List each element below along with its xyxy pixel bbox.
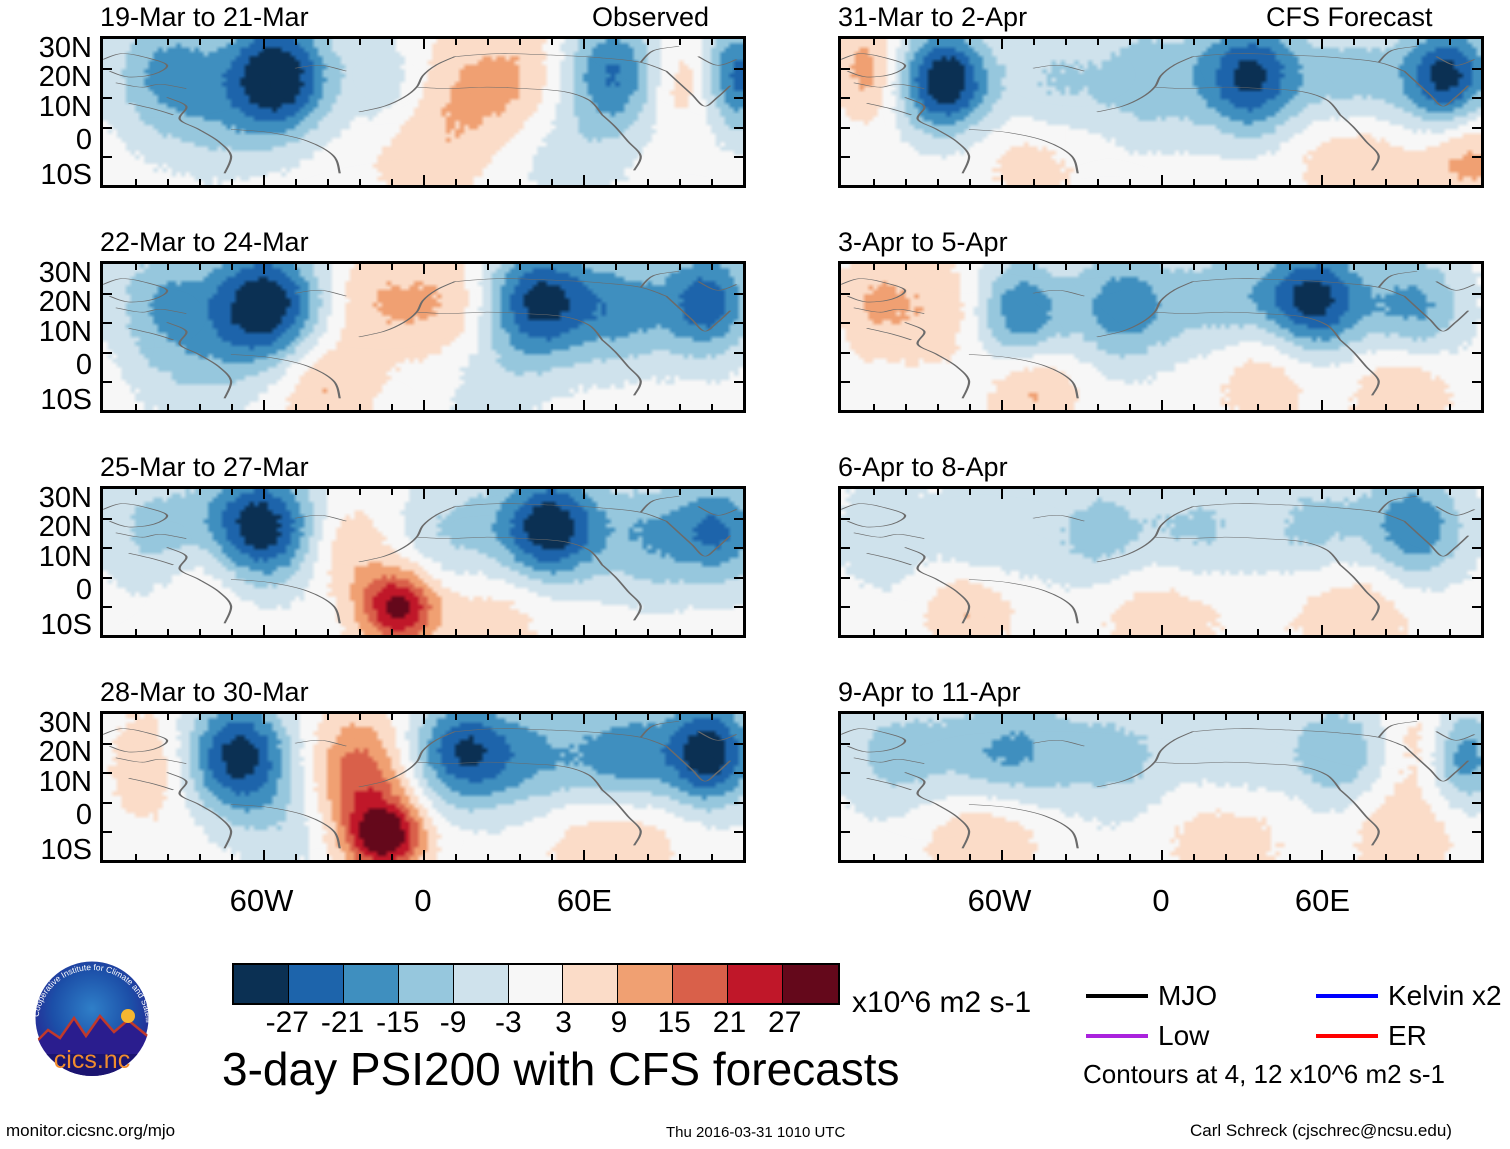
coastline bbox=[359, 57, 455, 112]
coastline bbox=[698, 57, 736, 66]
er-contour bbox=[867, 270, 886, 317]
coastline bbox=[116, 758, 186, 764]
colorbar-segment bbox=[673, 965, 728, 1003]
colorbar-tick-label: -3 bbox=[478, 1008, 538, 1038]
colorbar-segment bbox=[563, 965, 618, 1003]
coastline bbox=[167, 547, 231, 623]
y-tick-label: 20N bbox=[0, 288, 92, 317]
kelvin-contour bbox=[1391, 533, 1468, 551]
panel-title-observed-2: 22-Mar to 24-Mar bbox=[100, 229, 309, 256]
coastline bbox=[455, 504, 666, 522]
map-overlay bbox=[103, 489, 743, 635]
legend-label-low: Low bbox=[1158, 1022, 1209, 1050]
er-contour bbox=[116, 50, 271, 118]
er-contour bbox=[1033, 302, 1073, 401]
low-contour bbox=[1078, 176, 1136, 179]
kelvin-contour bbox=[1263, 734, 1378, 757]
map-overlay bbox=[103, 39, 743, 185]
coastline bbox=[641, 271, 679, 287]
y-tick-label: 10S bbox=[0, 836, 92, 865]
low-contour bbox=[666, 175, 717, 179]
er-contour bbox=[436, 515, 500, 533]
y-tick-label: 10N bbox=[0, 543, 92, 572]
coastline bbox=[455, 729, 666, 747]
coastline bbox=[666, 71, 730, 106]
coastline bbox=[1340, 565, 1379, 620]
coastline bbox=[417, 87, 603, 115]
kelvin-contour bbox=[1449, 48, 1481, 89]
coastline bbox=[103, 279, 167, 302]
coastline bbox=[641, 721, 679, 737]
logo-wordmark: cics.nc bbox=[54, 1046, 130, 1074]
kelvin-contour bbox=[397, 752, 437, 840]
coastline bbox=[417, 537, 603, 565]
map-observed-4[interactable] bbox=[100, 711, 746, 863]
coastline bbox=[167, 97, 231, 173]
coastline bbox=[905, 322, 969, 398]
y-tick-label: 10S bbox=[0, 161, 92, 190]
coastline bbox=[969, 355, 1078, 399]
y-tick-label: 0 bbox=[0, 351, 92, 380]
er-contour bbox=[1014, 322, 1027, 404]
cicsnc-logo-graphic: Cooperative Institute for Climate and Sa… bbox=[18, 958, 178, 1078]
coastline bbox=[1033, 740, 1084, 746]
panel-title-forecast-3: 6-Apr to 8-Apr bbox=[838, 454, 1008, 481]
coastline bbox=[1155, 762, 1341, 790]
colorbar-segment bbox=[399, 965, 454, 1003]
mjo-contour bbox=[1097, 492, 1238, 507]
coastline bbox=[698, 282, 736, 291]
coastline bbox=[455, 279, 666, 297]
legend-item-kelvin: Kelvin x2 bbox=[1316, 982, 1502, 1010]
x-tick-label: 60W bbox=[956, 885, 1044, 916]
colorbar-units-label: x10^6 m2 s-1 bbox=[852, 988, 1031, 1018]
colorbar-tick-label: 27 bbox=[755, 1008, 815, 1038]
panel-title-observed-4: 28-Mar to 30-Mar bbox=[100, 679, 309, 706]
colorbar-segment bbox=[454, 965, 509, 1003]
mjo-contour bbox=[982, 267, 1161, 279]
colorbar-segment bbox=[783, 965, 838, 1003]
er-contour bbox=[333, 717, 397, 837]
map-forecast-1[interactable] bbox=[838, 36, 1484, 188]
coastline bbox=[841, 504, 905, 527]
column-header-observed: Observed bbox=[592, 4, 709, 31]
coastline bbox=[1340, 790, 1379, 845]
colorbar-tick-label: 21 bbox=[699, 1008, 759, 1038]
contour-levels-note: Contours at 4, 12 x10^6 m2 s-1 bbox=[1083, 1061, 1445, 1087]
coastline bbox=[359, 732, 455, 787]
coastline bbox=[129, 328, 174, 340]
colorbar-segment bbox=[509, 965, 564, 1003]
kelvin-contour bbox=[854, 89, 867, 136]
coastline bbox=[231, 355, 340, 399]
mjo-contour bbox=[1071, 159, 1148, 168]
coastline bbox=[867, 103, 912, 115]
y-tick-label: 30N bbox=[0, 484, 92, 513]
y-tick-label: 10N bbox=[0, 93, 92, 122]
er-contour bbox=[956, 585, 1010, 617]
coastline bbox=[1033, 290, 1084, 296]
coastline bbox=[103, 504, 167, 527]
kelvin-contour bbox=[282, 267, 477, 349]
coastline bbox=[854, 533, 924, 539]
coastline bbox=[854, 83, 924, 89]
kelvin-contour bbox=[589, 42, 743, 130]
coastline bbox=[116, 308, 186, 314]
coastline bbox=[167, 322, 231, 398]
kelvin-contour bbox=[122, 308, 154, 399]
coastline bbox=[1436, 507, 1474, 516]
coastline bbox=[116, 533, 186, 539]
coastline bbox=[1155, 87, 1341, 115]
coastline bbox=[1436, 282, 1474, 291]
coastline bbox=[854, 308, 924, 314]
kelvin-contour bbox=[905, 267, 996, 293]
kelvin-contour bbox=[854, 577, 918, 603]
kelvin-contour bbox=[461, 492, 640, 521]
coastline bbox=[295, 515, 346, 521]
map-overlay bbox=[841, 714, 1481, 860]
y-tick-label: 30N bbox=[0, 709, 92, 738]
x-tick-label: 60W bbox=[218, 885, 306, 916]
panel-title-forecast-2: 3-Apr to 5-Apr bbox=[838, 229, 1008, 256]
er-contour bbox=[321, 533, 411, 624]
footer-left-url[interactable]: monitor.cicsnc.org/mjo bbox=[6, 1122, 175, 1139]
colorbar-tick-label: -21 bbox=[313, 1008, 373, 1038]
coastline bbox=[1193, 729, 1404, 747]
mjo-contour bbox=[943, 39, 1039, 48]
y-tick-label: 0 bbox=[0, 801, 92, 830]
coastline bbox=[698, 732, 736, 741]
kelvin-contour bbox=[1187, 42, 1251, 173]
footer-timestamp: Thu 2016-03-31 1010 UTC bbox=[666, 1124, 845, 1141]
mjo-contour bbox=[931, 495, 1072, 542]
coastline bbox=[969, 805, 1078, 849]
coastline bbox=[1097, 282, 1193, 337]
coastline bbox=[1404, 521, 1468, 556]
map-overlay bbox=[103, 264, 743, 410]
kelvin-contour bbox=[397, 39, 435, 109]
kelvin-line-swatch bbox=[1316, 994, 1378, 998]
coastline bbox=[1340, 115, 1379, 170]
coastline bbox=[854, 758, 924, 764]
y-tick-label: 10S bbox=[0, 386, 92, 415]
kelvin-contour bbox=[513, 717, 615, 740]
x-tick-label: 0 bbox=[379, 885, 467, 916]
legend-item-er: ER bbox=[1316, 1022, 1427, 1050]
coastline bbox=[841, 279, 905, 302]
coastline bbox=[905, 547, 969, 623]
colorbar-tick-label: -9 bbox=[423, 1008, 483, 1038]
y-tick-label: 20N bbox=[0, 738, 92, 767]
mjo-contour bbox=[193, 39, 283, 48]
coastline bbox=[1033, 515, 1084, 521]
panel-title-forecast-4: 9-Apr to 11-Apr bbox=[838, 679, 1021, 706]
coastline bbox=[641, 46, 679, 62]
y-tick-label: 30N bbox=[0, 34, 92, 63]
legend-item-mjo: MJO bbox=[1086, 982, 1217, 1010]
cicsnc-logo: Cooperative Institute for Climate and Sa… bbox=[18, 958, 178, 1078]
kelvin-contour bbox=[116, 562, 149, 626]
coastline bbox=[167, 772, 231, 848]
colorbar-segment bbox=[728, 965, 783, 1003]
er-contour bbox=[854, 54, 886, 127]
er-contour bbox=[385, 167, 443, 173]
er-contour bbox=[423, 726, 437, 817]
er-contour bbox=[1046, 65, 1066, 173]
coastline bbox=[602, 115, 641, 170]
mjo-contour bbox=[564, 492, 628, 510]
coastline bbox=[867, 778, 912, 790]
x-tick-label: 60E bbox=[1279, 885, 1367, 916]
coastline bbox=[867, 328, 912, 340]
kelvin-contour bbox=[1020, 267, 1122, 299]
coastline bbox=[841, 729, 905, 752]
map-forecast-3[interactable] bbox=[838, 486, 1484, 638]
kelvin-contour bbox=[180, 717, 270, 735]
colorbar-segment bbox=[289, 965, 344, 1003]
page-title: 3-day PSI200 with CFS forecasts bbox=[222, 1046, 900, 1092]
y-tick-label: 10N bbox=[0, 768, 92, 797]
mjo-contour bbox=[333, 590, 461, 621]
map-overlay bbox=[841, 489, 1481, 635]
coastline bbox=[602, 340, 641, 395]
coastline bbox=[116, 83, 186, 89]
coastline bbox=[129, 778, 174, 790]
legend-label-er: ER bbox=[1388, 1022, 1427, 1050]
coastline bbox=[969, 130, 1078, 174]
coastline bbox=[231, 580, 340, 624]
coastline bbox=[1097, 57, 1193, 112]
mjo-contour bbox=[1315, 267, 1405, 366]
er-line-swatch bbox=[1316, 1034, 1378, 1038]
x-tick-label: 0 bbox=[1117, 885, 1205, 916]
low-line-swatch bbox=[1086, 1034, 1148, 1038]
coastline bbox=[103, 729, 167, 752]
low-contour bbox=[666, 401, 692, 404]
coastline bbox=[1379, 271, 1417, 287]
coastline bbox=[129, 553, 174, 565]
panel-title-observed-3: 25-Mar to 27-Mar bbox=[100, 454, 309, 481]
coastline bbox=[698, 507, 736, 516]
kelvin-contour bbox=[218, 39, 474, 124]
y-tick-label: 10N bbox=[0, 318, 92, 347]
mjo-contour bbox=[218, 363, 295, 369]
coastline bbox=[295, 740, 346, 746]
coastline bbox=[969, 580, 1078, 624]
coastline bbox=[231, 130, 340, 174]
map-overlay bbox=[841, 39, 1481, 185]
coastline bbox=[1436, 732, 1474, 741]
coastline bbox=[359, 282, 455, 337]
mjo-contour bbox=[410, 264, 576, 290]
mjo-contour bbox=[231, 714, 308, 726]
legend-label-kelvin: Kelvin x2 bbox=[1388, 982, 1502, 1010]
map-overlay bbox=[103, 714, 743, 860]
map-observed-3[interactable] bbox=[100, 486, 746, 638]
coastline bbox=[1193, 504, 1404, 522]
coastline bbox=[417, 312, 603, 340]
x-tick-label: 60E bbox=[541, 885, 629, 916]
coastline bbox=[1379, 46, 1417, 62]
coastline bbox=[129, 103, 174, 115]
coastline bbox=[641, 496, 679, 512]
coastline bbox=[905, 772, 969, 848]
kelvin-contour bbox=[295, 758, 397, 846]
y-tick-label: 0 bbox=[0, 126, 92, 155]
coastline bbox=[1404, 71, 1468, 106]
kelvin-contour bbox=[995, 51, 1136, 107]
colorbar-tick-label: 3 bbox=[534, 1008, 594, 1038]
coastline bbox=[455, 54, 666, 72]
colorbar-tick-label: 15 bbox=[644, 1008, 704, 1038]
coastline bbox=[103, 54, 167, 77]
colorbar[interactable] bbox=[232, 963, 840, 1005]
coastline bbox=[1193, 279, 1404, 297]
panel-title-forecast-1: 31-Mar to 2-Apr bbox=[838, 4, 1027, 31]
map-forecast-2[interactable] bbox=[838, 261, 1484, 413]
coastline bbox=[1404, 746, 1468, 781]
low-contour bbox=[282, 845, 359, 854]
coastline bbox=[666, 746, 730, 781]
low-contour bbox=[269, 392, 346, 407]
kelvin-contour bbox=[1404, 395, 1468, 404]
coastline bbox=[1097, 507, 1193, 562]
map-observed-2[interactable] bbox=[100, 261, 746, 413]
legend-item-low: Low bbox=[1086, 1022, 1209, 1050]
kelvin-contour bbox=[666, 720, 717, 761]
coastline bbox=[417, 762, 603, 790]
coastline bbox=[231, 805, 340, 849]
coastline bbox=[602, 565, 641, 620]
coastline bbox=[295, 290, 346, 296]
map-forecast-4[interactable] bbox=[838, 711, 1484, 863]
coastline bbox=[1097, 732, 1193, 787]
column-header-forecast: CFS Forecast bbox=[1266, 4, 1433, 31]
y-tick-label: 0 bbox=[0, 576, 92, 605]
coastline bbox=[666, 521, 730, 556]
footer-author: Carl Schreck (cjschrec@ncsu.edu) bbox=[1190, 1122, 1452, 1139]
kelvin-contour bbox=[892, 42, 988, 68]
coastline bbox=[1155, 537, 1341, 565]
map-observed-1[interactable] bbox=[100, 36, 746, 188]
mjo-line-swatch bbox=[1086, 994, 1148, 998]
mjo-contour bbox=[352, 51, 423, 105]
coastline bbox=[1340, 340, 1379, 395]
colorbar-segment bbox=[234, 965, 289, 1003]
coastline bbox=[295, 65, 346, 71]
low-contour bbox=[295, 159, 404, 182]
colorbar-tick-label: -27 bbox=[257, 1008, 317, 1038]
coastline bbox=[666, 296, 730, 331]
coastline bbox=[867, 553, 912, 565]
y-tick-label: 10S bbox=[0, 611, 92, 640]
coastline bbox=[841, 54, 905, 77]
coastline bbox=[1379, 721, 1417, 737]
coastline bbox=[1379, 496, 1417, 512]
coastline bbox=[602, 790, 641, 845]
mjo-contour bbox=[577, 48, 737, 92]
coastline bbox=[1033, 65, 1084, 71]
mjo-contour bbox=[1302, 492, 1366, 580]
coastline bbox=[905, 97, 969, 173]
y-tick-label: 30N bbox=[0, 259, 92, 288]
colorbar-segment bbox=[618, 965, 673, 1003]
y-tick-label: 20N bbox=[0, 63, 92, 92]
coastline bbox=[359, 507, 455, 562]
coastline bbox=[1193, 54, 1404, 72]
colorbar-segment bbox=[344, 965, 399, 1003]
kelvin-contour bbox=[879, 828, 956, 840]
coastline bbox=[1404, 296, 1468, 331]
map-overlay bbox=[841, 264, 1481, 410]
coastline bbox=[1436, 57, 1474, 66]
panel-title-observed-1: 19-Mar to 21-Mar bbox=[100, 4, 309, 31]
mjo-contour bbox=[918, 732, 1238, 776]
colorbar-tick-label: -15 bbox=[368, 1008, 428, 1038]
coastline bbox=[1155, 312, 1341, 340]
mjo-contour bbox=[346, 820, 463, 851]
legend-label-mjo: MJO bbox=[1158, 982, 1217, 1010]
kelvin-contour bbox=[1238, 293, 1379, 355]
colorbar-tick-label: 9 bbox=[589, 1008, 649, 1038]
y-tick-label: 20N bbox=[0, 513, 92, 542]
